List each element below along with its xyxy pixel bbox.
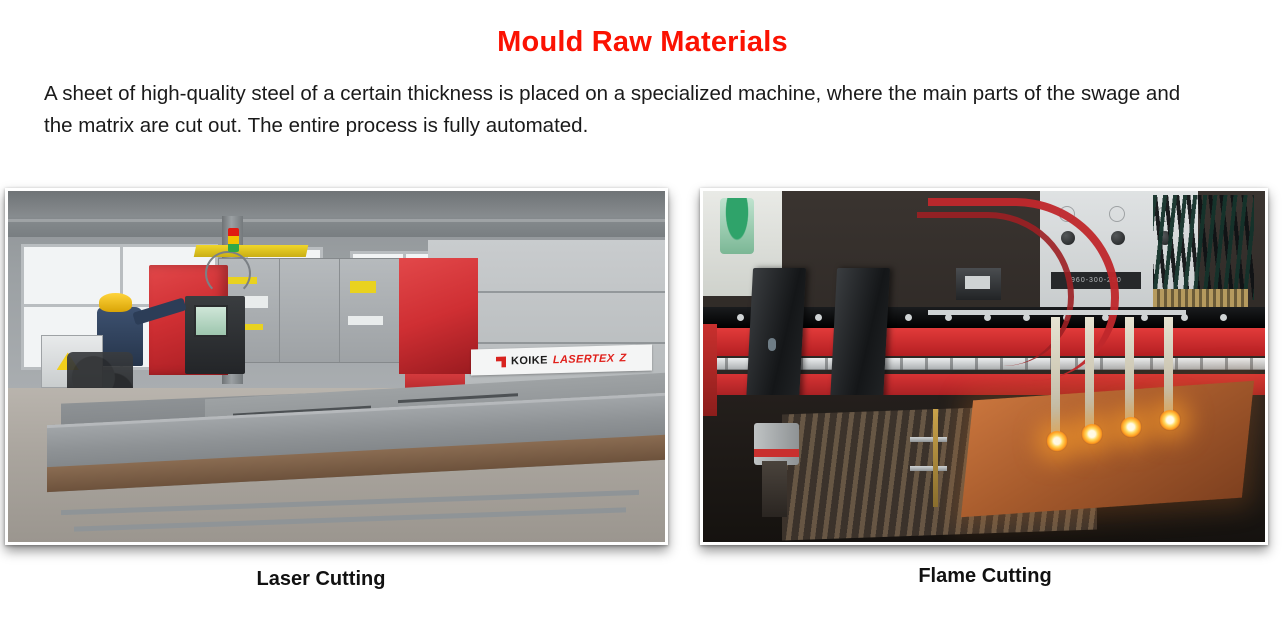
caption-laser-cutting: Laser Cutting <box>121 568 521 591</box>
hard-hat <box>99 293 133 311</box>
green-lamp <box>720 198 754 254</box>
flame <box>1081 423 1103 445</box>
gas-cylinder <box>754 423 799 465</box>
yellow-top-rail <box>194 245 308 257</box>
red-post <box>703 324 717 415</box>
console-screen <box>194 305 228 337</box>
flame <box>1046 430 1068 452</box>
red-gantry-head <box>399 258 478 374</box>
brand-model-suffix: Z <box>620 353 627 365</box>
machine-brand-plate: KOIKE LASERTEX Z <box>471 345 652 376</box>
koike-logo-icon <box>496 356 506 367</box>
torch-assembly <box>905 409 967 507</box>
torch-crossbar <box>928 310 1187 315</box>
cutting-torch <box>1125 317 1134 422</box>
signal-tower-light <box>228 228 239 253</box>
flame-cutting-scene: 960-300-250 <box>703 191 1265 542</box>
page-title: Mould Raw Materials <box>0 26 1285 59</box>
cutting-torch <box>1164 317 1173 415</box>
intro-paragraph: A sheet of high-quality steel of a certa… <box>44 78 1196 142</box>
slide-root: Mould Raw Materials A sheet of high-qual… <box>0 0 1285 619</box>
photo-laser-cutting[interactable]: KOIKE LASERTEX Z <box>5 188 668 545</box>
caption-flame-cutting: Flame Cutting <box>785 565 1185 588</box>
flame <box>1159 409 1181 431</box>
cable-reel <box>205 251 251 297</box>
laser-cutting-scene: KOIKE LASERTEX Z <box>8 191 665 542</box>
cylinder-stand <box>762 461 787 517</box>
cutting-torch <box>1051 317 1060 436</box>
cable-harness <box>1153 195 1254 300</box>
cutting-torch <box>1085 317 1094 429</box>
brand-name: KOIKE <box>511 355 548 368</box>
ceiling-beam <box>8 191 665 237</box>
flame <box>1120 416 1142 438</box>
brand-model: LASERTEX <box>553 353 615 367</box>
cover-handle <box>768 338 776 351</box>
steel-plate-glowing <box>961 381 1254 517</box>
photo-flame-cutting[interactable]: 960-300-250 <box>700 188 1268 545</box>
